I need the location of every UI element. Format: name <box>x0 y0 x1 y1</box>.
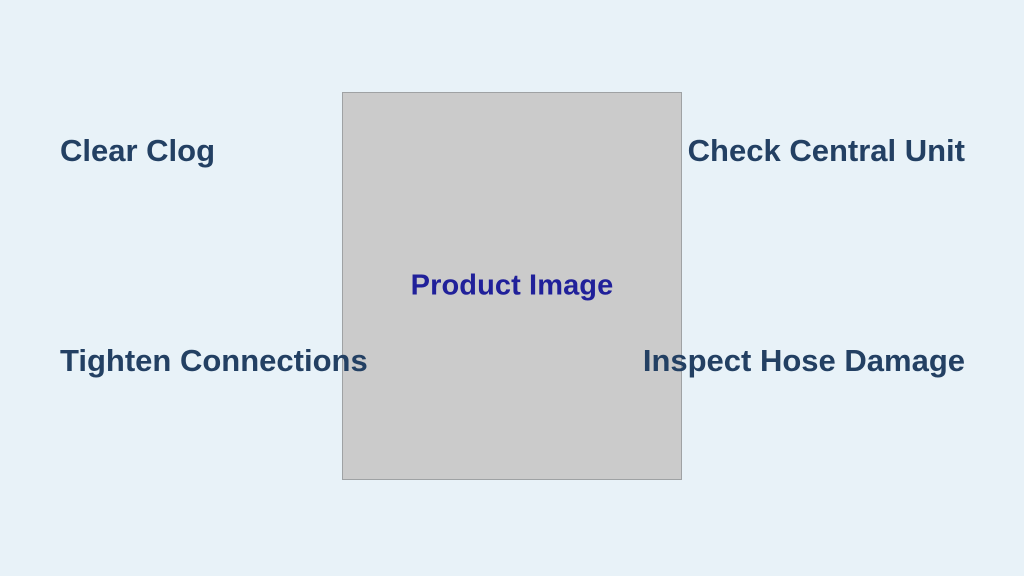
callout-tighten-connections: Tighten Connections <box>60 338 390 383</box>
callout-check-central-unit: Check Central Unit <box>635 128 965 173</box>
product-image-placeholder: Product Image <box>342 92 682 480</box>
callout-inspect-hose-damage: Inspect Hose Damage <box>635 338 965 383</box>
product-image-caption: Product Image <box>343 270 681 303</box>
slide-canvas: Product Image Clear Clog Check Central U… <box>0 0 1024 576</box>
callout-clear-clog: Clear Clog <box>60 128 340 173</box>
